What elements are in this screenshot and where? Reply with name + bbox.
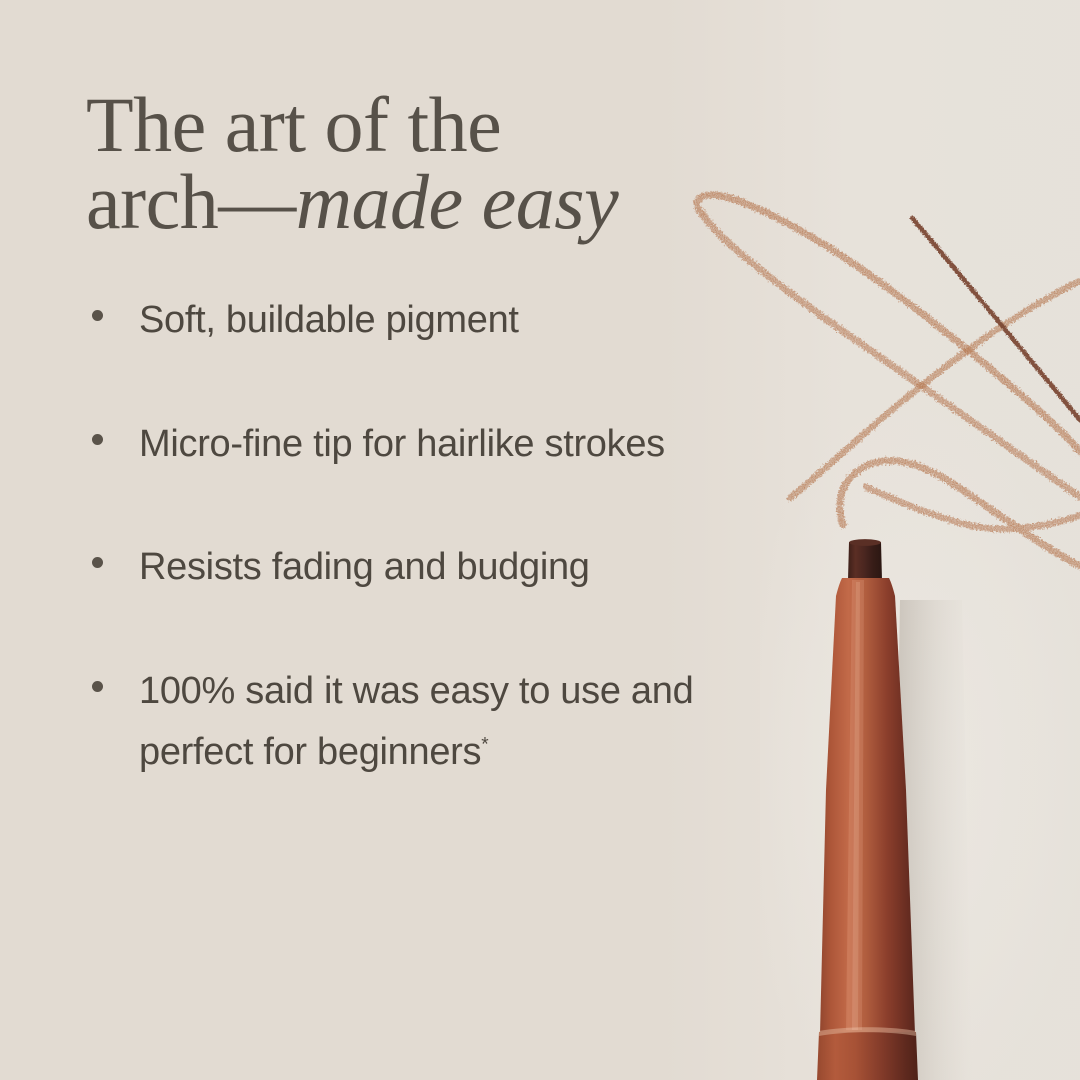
headline-line-1: The art of the (86, 86, 726, 163)
list-item: Resists fading and budging (86, 537, 806, 599)
benefit-text-body: 100% said it was easy to use and perfect… (139, 670, 693, 774)
bullet-dot-icon (92, 557, 103, 568)
pencil-tip (848, 542, 882, 580)
headline-emphasis: made easy (296, 158, 619, 245)
bullet-dot-icon (92, 310, 103, 321)
bullet-dot-icon (92, 434, 103, 445)
bullet-dot-icon (92, 681, 103, 692)
headline-line-2-plain: arch— (86, 158, 296, 245)
background-haze-glow (760, 380, 1080, 1080)
benefits-list: Soft, buildable pigment Micro-fine tip f… (86, 290, 806, 784)
list-item: 100% said it was easy to use and perfect… (86, 661, 806, 784)
list-item: Soft, buildable pigment (86, 290, 806, 352)
headline-line-2: arch—made easy (86, 163, 726, 240)
pencil-seam (819, 1027, 916, 1036)
benefit-text: Soft, buildable pigment (139, 290, 806, 352)
list-item: Micro-fine tip for hairlike strokes (86, 414, 806, 476)
benefit-text: 100% said it was easy to use and perfect… (139, 661, 806, 784)
page-title: The art of the arch—made easy (86, 86, 726, 240)
benefit-text: Resists fading and budging (139, 537, 806, 599)
benefit-text: Micro-fine tip for hairlike strokes (139, 414, 806, 476)
marketing-card: The art of the arch—made easy Soft, buil… (0, 0, 1080, 1080)
footnote-asterisk: * (481, 735, 488, 756)
pencil-barrel (820, 578, 915, 1034)
pencil-collar (817, 1032, 918, 1080)
